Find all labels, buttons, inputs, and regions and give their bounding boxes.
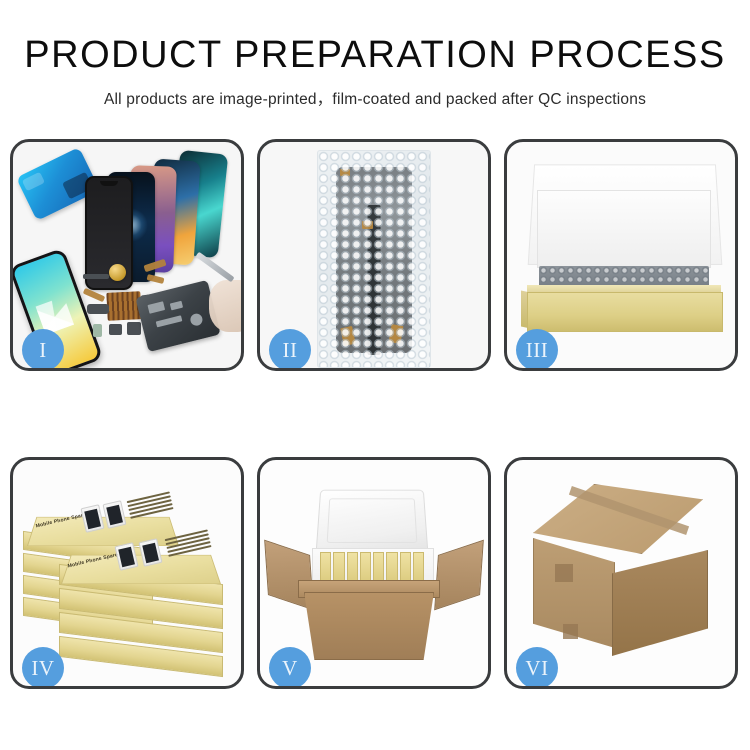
flex-cable-2-icon (147, 274, 165, 284)
header: PRODUCT PREPARATION PROCESS All products… (0, 0, 750, 109)
step-badge-6: VI (516, 647, 558, 689)
product-preparation-infographic: PRODUCT PREPARATION PROCESS All products… (0, 0, 750, 750)
bubble-texture (318, 151, 430, 367)
process-step-5: V (257, 457, 491, 689)
technician-hand-icon (209, 280, 244, 332)
step-badge-3: III (516, 329, 558, 371)
step-badge-5: V (269, 647, 311, 689)
page-title: PRODUCT PREPARATION PROCESS (0, 36, 750, 76)
tape-seal-top-icon (555, 564, 573, 582)
process-step-6: VI (504, 457, 738, 689)
bubble-wrap-bag-icon (317, 150, 431, 368)
phone-screen-fan (85, 150, 235, 275)
foam-sheet-icon (537, 190, 711, 268)
component-block-icon (87, 304, 109, 314)
carton-top-face-icon (533, 484, 703, 554)
component-bar-icon (83, 274, 109, 279)
component-small-icon (93, 324, 102, 337)
board-chip-3-icon (156, 315, 183, 327)
phone-screen-fill (106, 504, 123, 524)
step-badge-4: IV (22, 647, 64, 689)
process-step-4: Mobile Phone Spare Parts Mobile Phone Sp… (10, 457, 244, 689)
notch-icon (100, 181, 118, 186)
phone-screen-fill (84, 508, 101, 528)
process-step-3: III (504, 139, 738, 371)
speaker-module-icon (109, 264, 126, 281)
step-badge-2: II (269, 329, 311, 371)
process-step-2: II (257, 139, 491, 371)
board-chip-4-icon (189, 312, 204, 327)
step-badge-1: I (22, 329, 64, 371)
process-step-grid: I II (10, 139, 740, 689)
process-step-1: I (10, 139, 244, 371)
phone-screen-fill (142, 542, 159, 562)
carton-body-icon (304, 592, 434, 660)
board-chip-1-icon (147, 301, 165, 314)
board-chip-2-icon (170, 301, 183, 311)
tape-seal-bottom-icon (563, 624, 578, 639)
carton-right-face-icon (612, 550, 708, 656)
phone-screen-fill (118, 546, 135, 566)
carton-flap-right-icon (434, 540, 484, 611)
foam-lid-icon (316, 490, 429, 553)
box-stack: Mobile Phone Spare Parts Mobile Phone Sp… (21, 478, 235, 674)
logic-board-icon (135, 280, 220, 352)
component-bracket-icon (127, 322, 141, 335)
page-subtitle: All products are image-printed，film-coat… (0, 87, 750, 109)
yellow-box-front-icon (527, 292, 723, 332)
component-clip-icon (109, 324, 122, 335)
